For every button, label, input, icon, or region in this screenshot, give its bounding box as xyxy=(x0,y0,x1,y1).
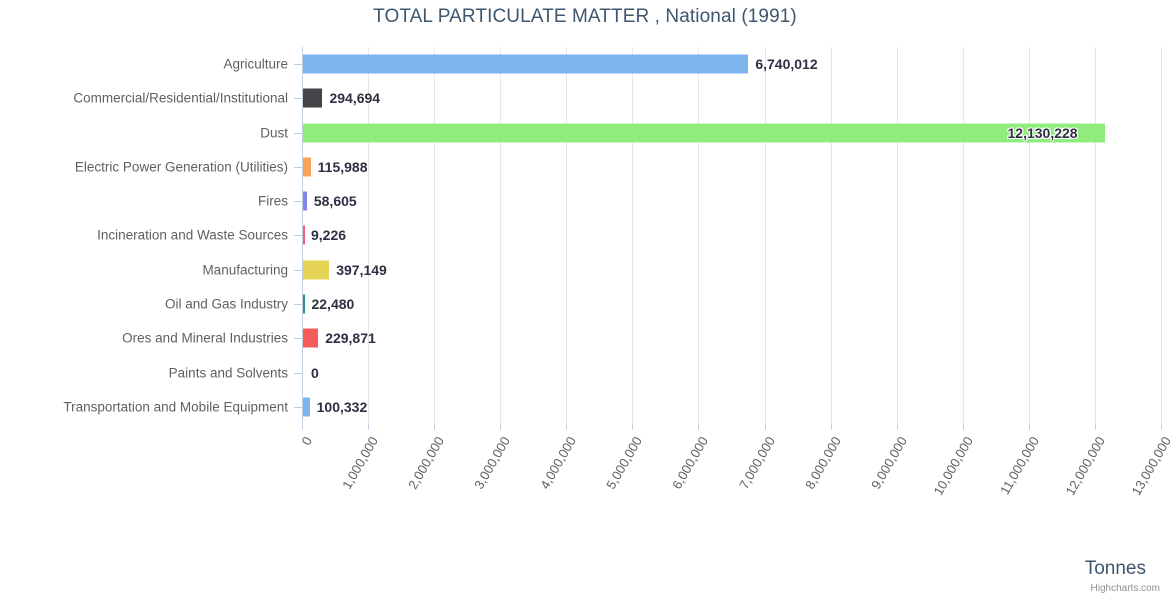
x-axis-tick xyxy=(368,424,369,430)
category-label: Electric Power Generation (Utilities) xyxy=(75,159,288,174)
credits-label: Highcharts.com xyxy=(1091,583,1160,594)
x-axis-tick xyxy=(1029,424,1030,430)
bar-value-label: 9,226 xyxy=(311,227,346,243)
x-axis-tick xyxy=(302,424,303,430)
x-axis-tick xyxy=(897,424,898,430)
bar-value-label: 100,332 xyxy=(317,399,368,415)
chart-row: Transportation and Mobile Equipment100,3… xyxy=(0,390,1170,424)
x-axis-tick xyxy=(1095,424,1096,430)
x-axis-tick-label: 0 xyxy=(202,434,315,615)
category-label: Ores and Mineral Industries xyxy=(122,331,288,346)
chart-container: TOTAL PARTICULATE MATTER , National (199… xyxy=(0,0,1170,600)
bar-value-label: 397,149 xyxy=(336,262,387,278)
bar[interactable] xyxy=(303,55,748,74)
chart-row: Manufacturing397,149 xyxy=(0,253,1170,287)
category-label: Dust xyxy=(260,125,288,140)
chart-row: Paints and Solvents0 xyxy=(0,355,1170,389)
bar-value-label: 22,480 xyxy=(311,296,354,312)
chart-row: Fires58,605 xyxy=(0,184,1170,218)
category-tick xyxy=(294,407,302,408)
x-axis-tick xyxy=(1161,424,1162,430)
bar-value-label: 229,871 xyxy=(325,330,376,346)
bar-value-label: 0 xyxy=(311,365,319,381)
bar[interactable] xyxy=(303,123,1105,142)
bar[interactable] xyxy=(303,192,307,211)
bar[interactable] xyxy=(303,295,305,314)
chart-row: Oil and Gas Industry22,480 xyxy=(0,287,1170,321)
x-axis-tick xyxy=(698,424,699,430)
x-axis-tick-label: 9,000,000 xyxy=(797,434,910,615)
bar-value-label: 6,740,012 xyxy=(755,56,817,72)
bar-value-label: 115,988 xyxy=(318,159,368,175)
x-axis-tick xyxy=(434,424,435,430)
bar[interactable] xyxy=(303,260,329,279)
category-label: Commercial/Residential/Institutional xyxy=(73,91,288,106)
category-label: Fires xyxy=(258,194,288,209)
category-tick xyxy=(294,133,302,134)
category-label: Paints and Solvents xyxy=(169,365,288,380)
x-axis-tick-label: 8,000,000 xyxy=(731,434,844,615)
chart-row: Electric Power Generation (Utilities)115… xyxy=(0,150,1170,184)
category-tick xyxy=(294,235,302,236)
x-axis-tick xyxy=(831,424,832,430)
category-tick xyxy=(294,338,302,339)
category-tick xyxy=(294,64,302,65)
category-label: Agriculture xyxy=(223,57,288,72)
bar-value-label: 12,130,228 xyxy=(1008,125,1078,141)
category-tick xyxy=(294,201,302,202)
x-axis-tick xyxy=(765,424,766,430)
x-axis-title: Tonnes xyxy=(1085,558,1146,580)
category-tick xyxy=(294,270,302,271)
chart-row: Agriculture6,740,012 xyxy=(0,47,1170,81)
bar-value-label: 58,605 xyxy=(314,193,357,209)
bar-value-label: 294,694 xyxy=(329,90,380,106)
bar[interactable] xyxy=(303,397,310,416)
bar[interactable] xyxy=(303,329,318,348)
x-axis-tick xyxy=(632,424,633,430)
category-label: Oil and Gas Industry xyxy=(165,297,288,312)
x-axis-tick xyxy=(963,424,964,430)
chart-row: Incineration and Waste Sources9,226 xyxy=(0,218,1170,252)
category-tick xyxy=(294,373,302,374)
x-axis-tick-label: 10,000,000 xyxy=(863,434,976,615)
category-label: Transportation and Mobile Equipment xyxy=(63,399,288,414)
category-tick xyxy=(294,98,302,99)
category-label: Manufacturing xyxy=(202,262,288,277)
chart-row: Commercial/Residential/Institutional294,… xyxy=(0,81,1170,115)
category-tick xyxy=(294,167,302,168)
bar[interactable] xyxy=(303,226,305,245)
chart-title: TOTAL PARTICULATE MATTER , National (199… xyxy=(0,6,1170,28)
chart-row: Ores and Mineral Industries229,871 xyxy=(0,321,1170,355)
bar[interactable] xyxy=(303,157,311,176)
chart-row: Dust12,130,228 xyxy=(0,116,1170,150)
x-axis-tick xyxy=(566,424,567,430)
category-tick xyxy=(294,304,302,305)
bar[interactable] xyxy=(303,89,322,108)
x-axis-tick xyxy=(500,424,501,430)
category-label: Incineration and Waste Sources xyxy=(97,228,288,243)
